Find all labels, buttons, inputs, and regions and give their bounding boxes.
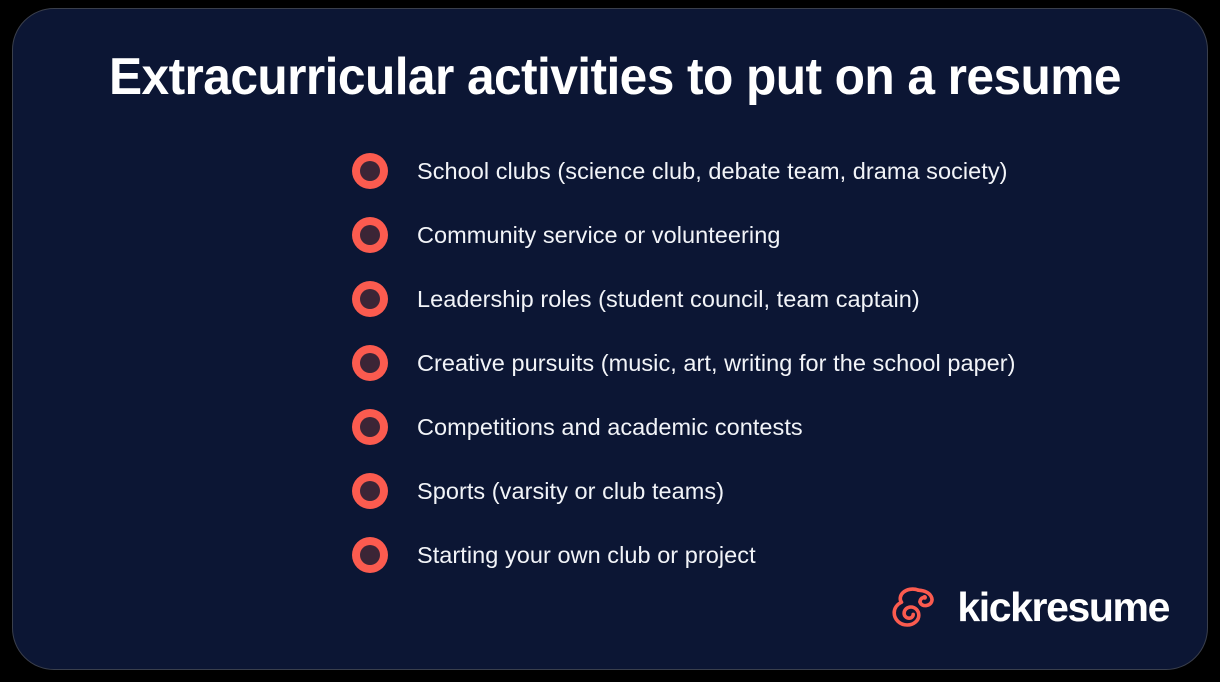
chameleon-eye-icon [923,595,928,600]
list-item: Sports (varsity or club teams) [352,473,1016,509]
slide-canvas: Extracurricular activities to put on a r… [0,0,1220,682]
brand-lockup: kickresume [888,583,1169,631]
list-item: School clubs (science club, debate team,… [352,153,1016,189]
bullet-core-icon [360,417,380,437]
list-item-label: School clubs (science club, debate team,… [417,153,1008,189]
bullet-ring-icon [352,217,388,253]
list-item-label: Competitions and academic contests [417,409,803,445]
kickresume-chameleon-icon [888,583,940,631]
list-item-label: Sports (varsity or club teams) [417,473,724,509]
list-item: Starting your own club or project [352,537,1016,573]
bullet-ring-icon [352,537,388,573]
page-title: Extracurricular activities to put on a r… [109,47,1102,107]
bullet-ring-icon [352,345,388,381]
bullet-core-icon [360,289,380,309]
list-item: Creative pursuits (music, art, writing f… [352,345,1016,381]
bullet-core-icon [360,225,380,245]
list-item-label: Creative pursuits (music, art, writing f… [417,345,1016,381]
bullet-ring-icon [352,473,388,509]
bullet-core-icon [360,481,380,501]
list-item: Competitions and academic contests [352,409,1016,445]
list-item: Leadership roles (student council, team … [352,281,1016,317]
bullet-core-icon [360,545,380,565]
activities-list: School clubs (science club, debate team,… [352,153,1016,573]
brand-name: kickresume [957,587,1169,628]
bullet-ring-icon [352,153,388,189]
bullet-ring-icon [352,409,388,445]
bullet-ring-icon [352,281,388,317]
content-card: Extracurricular activities to put on a r… [12,8,1208,670]
list-item-label: Starting your own club or project [417,537,756,573]
bullet-core-icon [360,353,380,373]
list-item: Community service or volunteering [352,217,1016,253]
bullet-core-icon [360,161,380,181]
list-item-label: Community service or volunteering [417,217,780,253]
list-item-label: Leadership roles (student council, team … [417,281,920,317]
